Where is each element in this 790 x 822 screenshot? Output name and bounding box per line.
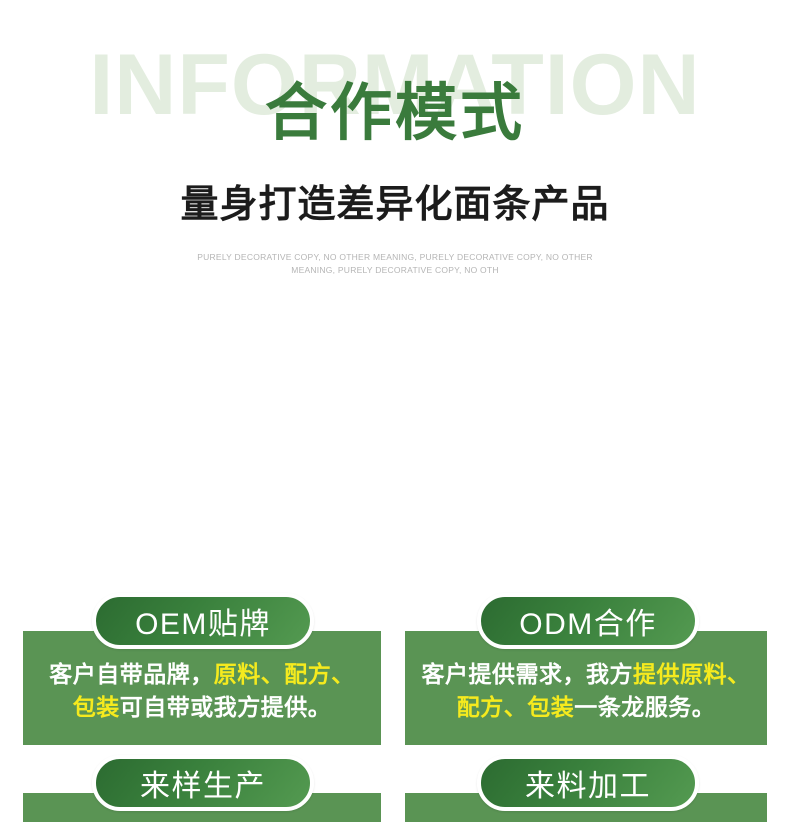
text-highlight: 配方、包装	[457, 694, 575, 720]
card-line: 配方、包装一条龙服务。	[405, 691, 767, 724]
card-badge-oem[interactable]: OEM贴牌	[92, 593, 314, 649]
card-badge-odm[interactable]: ODM合作	[477, 593, 699, 649]
page-subtitle: 量身打造差异化面条产品	[0, 183, 790, 229]
cooperation-models-page: INFORMATION 合作模式 量身打造差异化面条产品 PURELY DECO…	[0, 0, 790, 822]
card-badge-material-processing[interactable]: 来料加工	[477, 755, 699, 811]
page-title: 合作模式	[0, 78, 790, 149]
card-line: 包装可自带或我方提供。	[23, 691, 381, 724]
text-plain: 一条龙服务。	[574, 694, 715, 720]
decorative-copy: PURELY DECORATIVE COPY, NO OTHER MEANING…	[195, 251, 595, 277]
card-line: 客户提供需求，我方提供原料、	[405, 658, 767, 691]
text-plain: 客户自带品牌，	[49, 661, 214, 687]
text-plain: 可自带或我方提供。	[120, 694, 332, 720]
text-highlight: 原料、配方、	[214, 661, 355, 687]
card-badge-sample-production[interactable]: 来样生产	[92, 755, 314, 811]
page-header: INFORMATION 合作模式 量身打造差异化面条产品 PURELY DECO…	[0, 0, 790, 290]
text-plain: 客户提供需求，我方	[422, 661, 634, 687]
text-highlight: 提供原料、	[633, 661, 751, 687]
card-line: 客户自带品牌，原料、配方、	[23, 658, 381, 691]
text-highlight: 包装	[73, 694, 120, 720]
card-body-oem: 客户自带品牌，原料、配方、 包装可自带或我方提供。	[23, 658, 381, 723]
card-body-odm: 客户提供需求，我方提供原料、 配方、包装一条龙服务。	[405, 658, 767, 723]
